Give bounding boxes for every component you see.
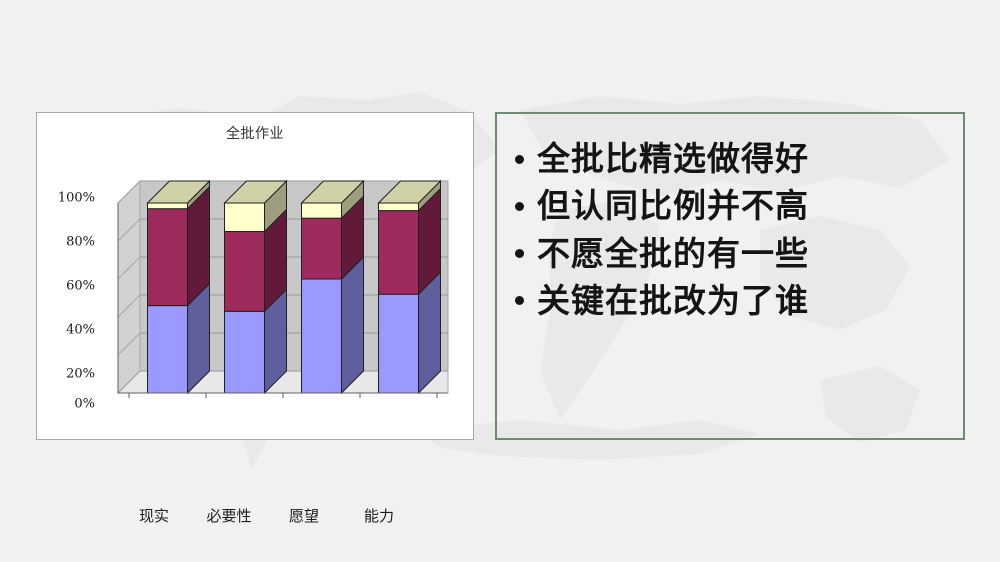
bullet-text: 全批比精选做得好	[537, 140, 953, 178]
y-tick-label-20: 20%	[45, 367, 95, 382]
y-tick-label-100: 100%	[45, 191, 95, 206]
bar-0	[148, 181, 210, 393]
bullet-text: 但认同比例并不高	[537, 187, 953, 225]
list-item: 全批比精选做得好	[511, 140, 953, 178]
x-tick-label-0: 现实	[139, 505, 169, 526]
y-tick-label-0: 0%	[45, 397, 95, 412]
bullet-text: 不愿全批的有一些	[537, 235, 953, 273]
y-tick-label-60: 60%	[45, 279, 95, 294]
bullet-text-panel: 全批比精选做得好 但认同比例并不高 不愿全批的有一些 关键在批改为了谁	[495, 112, 965, 440]
slide-canvas: 全批作业 100% 80% 60% 40% 20% 0% 现实 必要性 愿望 能…	[0, 0, 1000, 562]
bar-1	[225, 181, 287, 393]
bullet-dot-icon	[515, 249, 524, 258]
bar-2	[302, 181, 364, 393]
x-tick-label-3: 能力	[364, 505, 394, 526]
bullet-dot-icon	[515, 155, 524, 164]
bullet-dot-icon	[515, 296, 524, 305]
x-tick-label-1: 必要性	[206, 505, 251, 526]
chart-plot-area	[96, 173, 454, 411]
x-tick-label-2: 愿望	[289, 505, 319, 526]
bullet-dot-icon	[515, 202, 524, 211]
bullet-text: 关键在批改为了谁	[537, 282, 953, 320]
bullet-list: 全批比精选做得好 但认同比例并不高 不愿全批的有一些 关键在批改为了谁	[511, 140, 953, 320]
chart-y-axis: 100% 80% 60% 40% 20% 0%	[37, 113, 95, 441]
y-tick-label-80: 80%	[45, 235, 95, 250]
bar-3	[379, 181, 441, 393]
chart-x-axis: 现实 必要性 愿望 能力	[96, 505, 454, 535]
list-item: 关键在批改为了谁	[511, 282, 953, 320]
y-tick-label-40: 40%	[45, 323, 95, 338]
list-item: 但认同比例并不高	[511, 187, 953, 225]
chart-panel: 全批作业 100% 80% 60% 40% 20% 0% 现实 必要性 愿望 能…	[36, 112, 474, 440]
list-item: 不愿全批的有一些	[511, 235, 953, 273]
chart-title: 全批作业	[37, 123, 473, 143]
